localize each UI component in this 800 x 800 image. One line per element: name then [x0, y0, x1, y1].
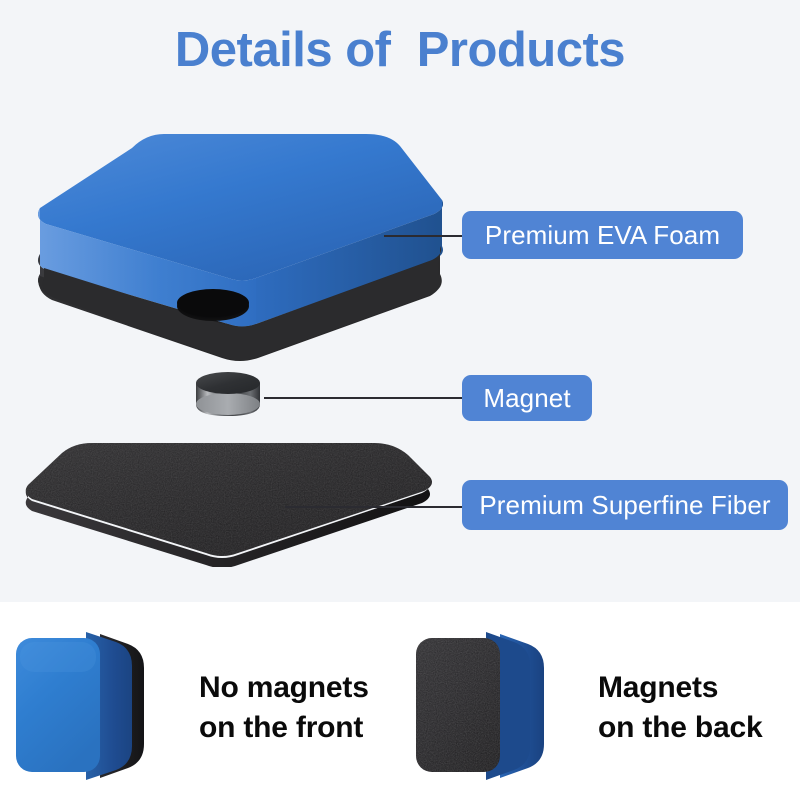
leader-line-foam [384, 235, 464, 237]
eva-foam-block-icon [26, 128, 446, 368]
product-detail-infographic: Details of Products [0, 0, 800, 800]
comparison-caption-front: No magnets on the front [199, 668, 369, 748]
leader-line-magnet [264, 397, 464, 399]
black-fiber-pad-back-icon [412, 628, 587, 783]
blue-foam-pad-front-icon [12, 628, 187, 783]
magnet-disc-icon [192, 371, 264, 421]
comparison-caption-back: Magnets on the back [598, 668, 763, 748]
page-title: Details of Products [0, 22, 800, 78]
callout-badge-magnet: Magnet [462, 375, 592, 421]
leader-line-fiber [285, 506, 464, 508]
callout-badge-eva-foam: Premium EVA Foam [462, 211, 743, 259]
callout-badge-superfine-fiber: Premium Superfine Fiber [462, 480, 788, 530]
superfine-fiber-pad-icon [22, 441, 442, 567]
